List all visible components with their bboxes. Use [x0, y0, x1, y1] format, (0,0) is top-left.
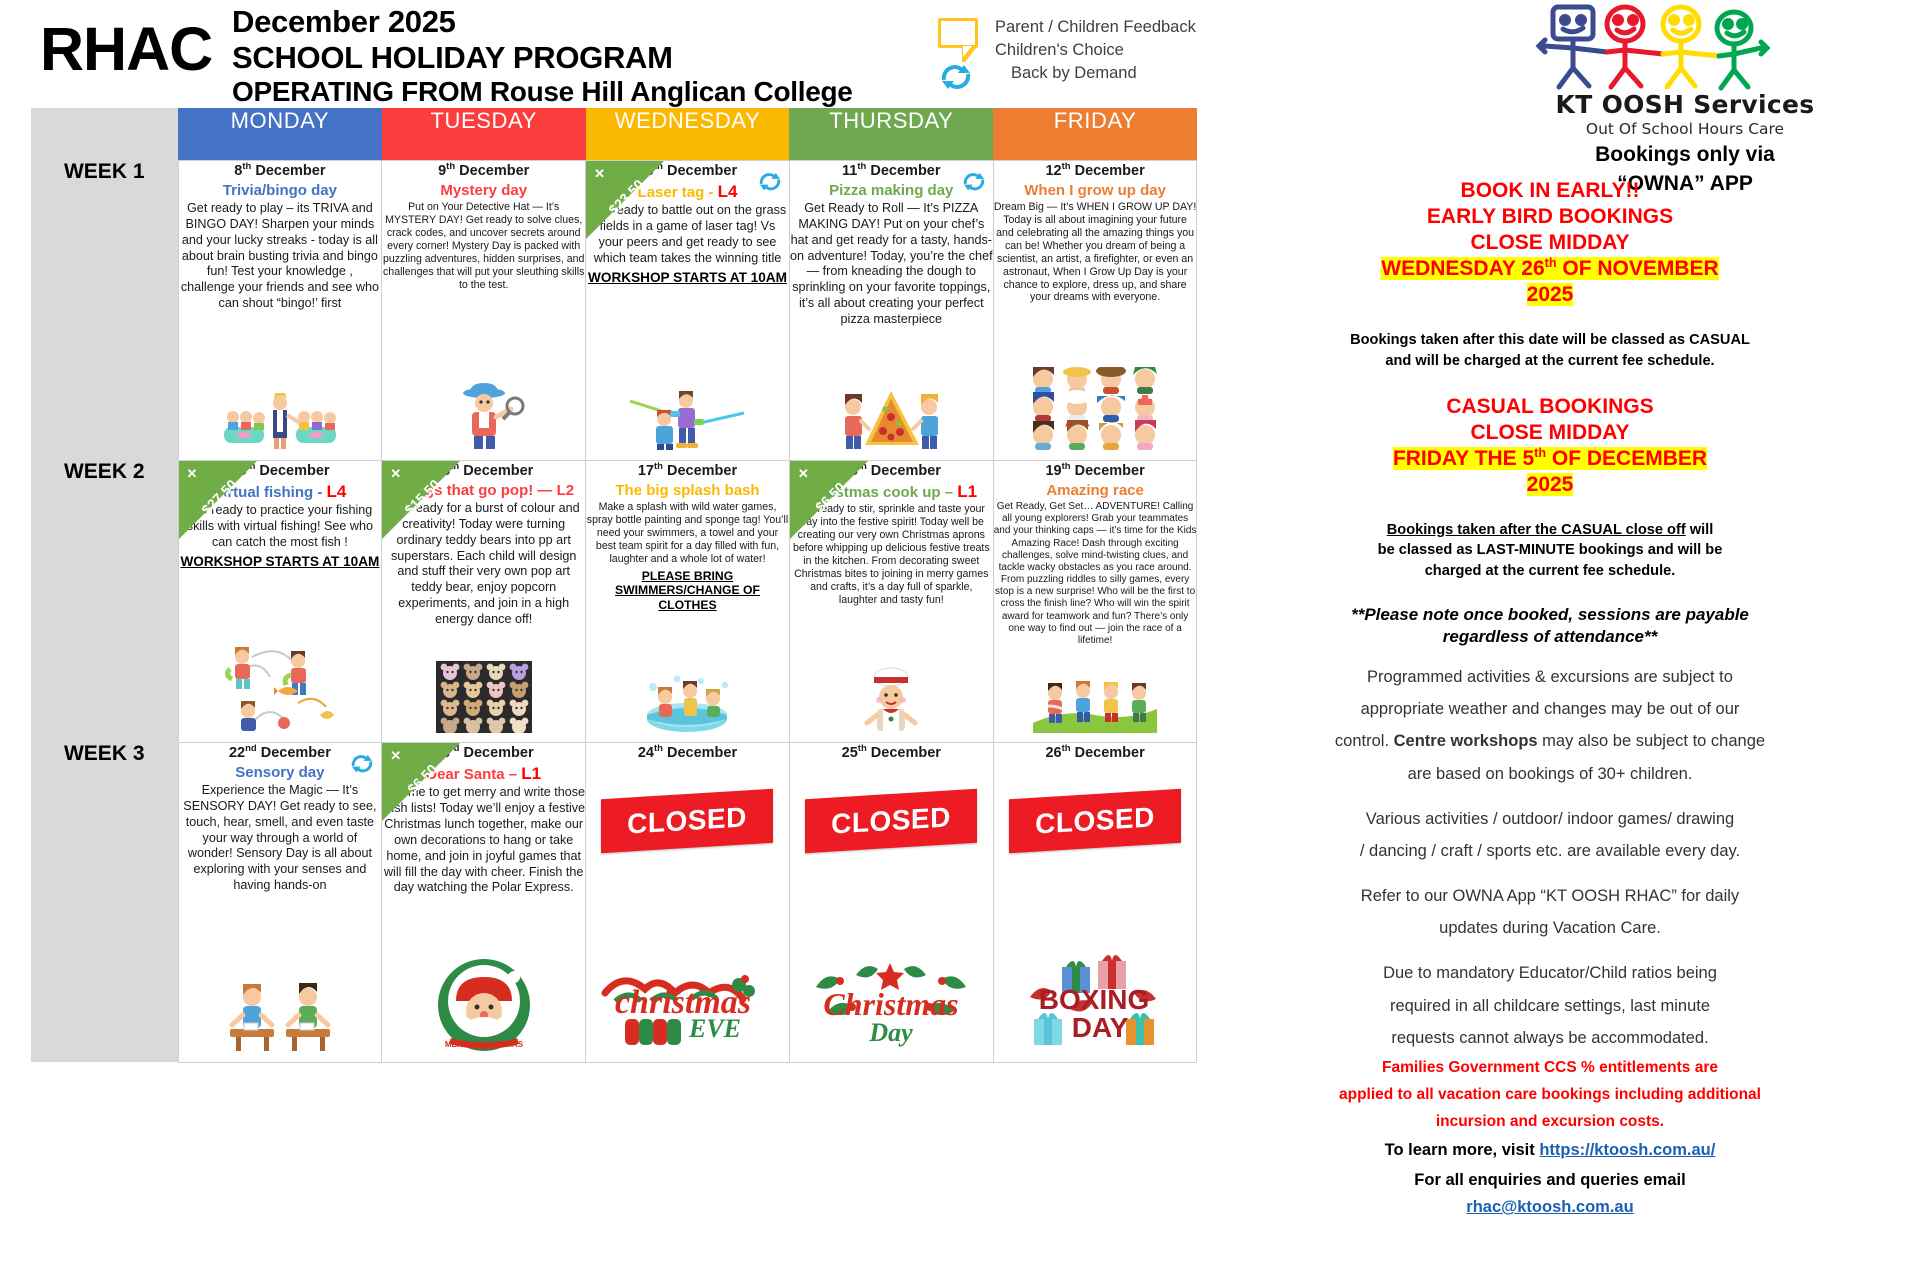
cell-date: 24th December	[586, 743, 789, 762]
legend-item-parent-feedback: Parent / Children Feedback	[995, 16, 1196, 39]
day-cell-11-december[interactable]: 11th December Pizza making day Get Ready…	[789, 160, 993, 460]
cell-date: 9th December	[382, 161, 585, 180]
day-header-tuesday: TUESDAY	[382, 108, 586, 160]
cell-date: 8th December	[179, 161, 382, 180]
svg-text:EVE: EVE	[688, 1014, 741, 1043]
price-badge: ✕ $23.50	[586, 161, 664, 239]
day-header-friday: FRIDAY	[993, 108, 1197, 160]
bookings-via-line1: Bookings only via	[1520, 143, 1850, 167]
programmed-line-4: are based on bookings of 30+ children.	[1200, 758, 1900, 790]
fishing-kids-icon	[179, 641, 382, 742]
last-minute-line-1: Bookings taken after the CASUAL close of…	[1200, 520, 1900, 541]
day-cell-12-december[interactable]: 12th December When I grow up day Dream B…	[993, 160, 1197, 460]
day-cell-22-december[interactable]: 22nd December Sensory day Experience the…	[178, 742, 382, 1062]
ratios-line-3: requests cannot always be accommodated.	[1200, 1022, 1900, 1054]
price-badge: ✕ $27.50	[179, 461, 257, 539]
svg-text:Christmas: Christmas	[824, 986, 959, 1022]
week-label-2: WEEK 2	[31, 460, 178, 742]
status-badge-closed: CLOSED	[1009, 788, 1181, 853]
price-badge: ✕ $15.50	[382, 461, 460, 539]
price-badge: ✕ $6.50	[790, 461, 868, 539]
ratios-line-1: Due to mandatory Educator/Child ratios b…	[1200, 957, 1900, 989]
classroom-children-icon	[179, 393, 382, 460]
day-cell-26-december[interactable]: 26th December CLOSED	[993, 742, 1197, 1062]
cell-workshop-note: WORKSHOP STARTS AT 10AM	[586, 270, 789, 286]
week-3-row: WEEK 3 22nd December Sensory day Experie…	[31, 742, 1197, 1062]
activity-level-badge: L4	[327, 482, 347, 501]
cell-date: 19th December	[994, 461, 1197, 480]
calendar-header-row: MONDAY TUESDAY WEDNESDAY THURSDAY FRIDAY	[31, 108, 1197, 160]
day-cell-19-december[interactable]: 19th December Amazing race Get Ready, Ge…	[993, 460, 1197, 742]
christmas-day-icon: Christmas Day	[790, 957, 993, 1062]
day-cell-10-december[interactable]: ✕ $23.50 10th December Laser tag - L4 Ge…	[586, 160, 790, 460]
logo-subtitle: Out Of School Hours Care	[1520, 120, 1850, 138]
programmed-line-3: control. Centre workshops may also be su…	[1200, 725, 1900, 757]
title-location: OPERATING FROM Rouse Hill Anglican Colle…	[232, 76, 853, 108]
cell-activity-title: Trivia/bingo day	[179, 182, 382, 199]
day-cell-23-december[interactable]: ✕ $6.50 23rd December Dear Santa – L1 It…	[382, 742, 586, 1062]
cell-activity-title: Mystery day	[382, 182, 585, 199]
week-1-row: WEEK 1 8th December Trivia/bingo day Get…	[31, 160, 1197, 460]
cell-date: 17th December	[586, 461, 789, 480]
back-by-demand-cycle-icon	[349, 751, 375, 780]
back-by-demand-cycle-icon	[938, 61, 986, 96]
back-by-demand-cycle-icon	[961, 169, 987, 198]
casual-bookings-date: FRIDAY THE 5th OF DECEMBER	[1200, 446, 1900, 472]
splash-pool-icon	[586, 671, 789, 742]
detective-child-icon	[382, 381, 585, 460]
page-header: RHAC December 2025 SCHOOL HOLIDAY PROGRA…	[0, 0, 1920, 108]
cell-description: Experience the Magic — It’s SENSORY DAY!…	[179, 783, 382, 894]
back-by-demand-cycle-icon	[757, 169, 783, 198]
legend-item-back-by-demand: Back by Demand	[995, 62, 1196, 85]
various-activities-line-1: Various activities / outdoor/ indoor gam…	[1200, 803, 1900, 835]
cell-description: Dream Big — It’s WHEN I GROW UP DAY! Tod…	[994, 201, 1197, 304]
day-cell-15-december[interactable]: ✕ $27.50 15th December Virtual fishing -…	[178, 460, 382, 742]
ratios-line-2: required in all childcare settings, last…	[1200, 990, 1900, 1022]
svg-text:DAY: DAY	[1072, 1012, 1129, 1043]
cell-description: Get ready to play – its TRIVA and BINGO …	[179, 201, 382, 312]
day-header-wednesday: WEDNESDAY	[586, 108, 790, 160]
calendar-grid: MONDAY TUESDAY WEDNESDAY THURSDAY FRIDAY…	[31, 108, 1197, 1063]
christmas-baker-icon	[790, 667, 993, 742]
week-2-row: WEEK 2 ✕ $27.50 15th December Virtual fi…	[31, 460, 1197, 742]
title-month: December 2025	[232, 4, 853, 40]
close-icon: ✕	[187, 466, 198, 482]
day-cell-17-december[interactable]: 17th December The big splash bash Make a…	[586, 460, 790, 742]
amazing-race-kids-icon	[994, 679, 1197, 742]
programmed-line-2: appropriate weather and changes may be o…	[1200, 693, 1900, 725]
book-early-year: 2025	[1200, 282, 1900, 308]
day-cell-25-december[interactable]: 25th December CLOSED	[789, 742, 993, 1062]
day-cell-24-december[interactable]: 24th December CLOSED christmas EVE	[586, 742, 790, 1062]
pizza-kids-icon	[790, 387, 993, 460]
rhac-email-link[interactable]: rhac@ktoosh.com.au	[1466, 1198, 1633, 1216]
stick-figures-logo-icon	[1520, 2, 1850, 94]
day-cell-16-december[interactable]: ✕ $15.50 16th December Things that go po…	[382, 460, 586, 742]
day-header-monday: MONDAY	[178, 108, 382, 160]
activity-level-badge: L4	[718, 182, 738, 201]
day-cell-18-december[interactable]: ✕ $6.50 18th December Christmas cook up …	[789, 460, 993, 742]
svg-text:Day: Day	[869, 1018, 914, 1047]
santa-badge-icon: MERRY CHRISTMAS	[382, 957, 585, 1062]
laser-tag-kids-icon	[586, 391, 789, 460]
day-cell-9-december[interactable]: 9th December Mystery day Put on Your Det…	[382, 160, 586, 460]
svg-text:MERRY CHRISTMAS: MERRY CHRISTMAS	[445, 1040, 524, 1049]
payable-note-line-1: **Please note once booked, sessions are …	[1200, 604, 1900, 626]
enquiries-line: For all enquiries and queries email	[1200, 1167, 1900, 1193]
book-early-line-2: EARLY BIRD BOOKINGS	[1200, 204, 1900, 230]
legend-item-childrens-choice: Children's Choice	[995, 39, 1196, 62]
svg-text:BOXING: BOXING	[1039, 984, 1149, 1015]
legend: Parent / Children Feedback Children's Ch…	[938, 16, 1198, 96]
close-icon: ✕	[390, 748, 401, 764]
casual-note-line-1: Bookings taken after this date will be c…	[1200, 330, 1900, 351]
week-label-3: WEEK 3	[31, 742, 178, 1062]
cell-activity-title: Amazing race	[994, 482, 1197, 499]
corner-blank	[31, 108, 178, 160]
last-minute-line-2: be classed as LAST-MINUTE bookings and w…	[1200, 540, 1900, 561]
learn-more-line: To learn more, visit https://ktoosh.com.…	[1200, 1135, 1900, 1166]
logo-name: KT OOSH Services	[1520, 90, 1850, 119]
boxing-day-icon: BOXING DAY	[994, 953, 1197, 1062]
cell-date: 25th December	[790, 743, 993, 762]
holiday-program-flyer: RHAC December 2025 SCHOOL HOLIDAY PROGRA…	[0, 0, 1920, 1280]
close-icon: ✕	[798, 466, 809, 482]
ccs-line-3: incursion and excursion costs.	[1200, 1108, 1900, 1135]
refer-owna-line-1: Refer to our OWNA App “KT OOSH RHAC” for…	[1200, 880, 1900, 912]
cell-description: Make a splash with wild water games, spr…	[586, 501, 789, 566]
various-activities-line-2: / dancing / craft / sports etc. are avai…	[1200, 835, 1900, 867]
kt-oosh-logo-area: KT OOSH Services Out Of School Hours Car…	[1520, 0, 1850, 196]
programmed-line-1: Programmed activities & excursions are s…	[1200, 661, 1900, 693]
legend-icon-group	[938, 16, 986, 96]
day-cell-8-december[interactable]: 8th December Trivia/bingo day Get ready …	[178, 160, 382, 460]
sensory-kids-icon	[179, 979, 382, 1062]
cell-activity-title: When I grow up day	[994, 182, 1197, 199]
book-early-date: WEDNESDAY 26th OF NOVEMBER	[1200, 256, 1900, 282]
cell-description: Get Ready, Get Set… ADVENTURE! Calling a…	[994, 501, 1197, 647]
email-line: rhac@ktoosh.com.au	[1200, 1193, 1900, 1221]
cell-activity-title: The big splash bash	[586, 482, 789, 499]
cell-description: Put on Your Detective Hat — It’s MYSTERY…	[382, 201, 585, 291]
speech-bubble-icon	[938, 18, 978, 48]
casual-bookings-line-2: CLOSE MIDDAY	[1200, 420, 1900, 446]
casual-bookings-year: 2025	[1200, 472, 1900, 498]
ktoosh-website-link[interactable]: https://ktoosh.com.au/	[1539, 1141, 1715, 1159]
close-icon: ✕	[390, 466, 401, 482]
info-sidebar: BOOK IN EARLY!! EARLY BIRD BOOKINGS CLOS…	[1200, 178, 1900, 1221]
book-early-line-1: BOOK IN EARLY!!	[1200, 178, 1900, 204]
brand-rhac: RHAC	[40, 14, 212, 84]
cell-description: Get Ready to Roll — It’s PIZZA MAKING DA…	[790, 201, 993, 328]
christmas-eve-icon: christmas EVE	[586, 957, 789, 1062]
casual-note-line-2: and will be charged at the current fee s…	[1200, 351, 1900, 372]
last-minute-line-3: charged at the current fee schedule.	[1200, 561, 1900, 582]
refer-owna-line-2: updates during Vacation Care.	[1200, 912, 1900, 944]
cell-workshop-note: WORKSHOP STARTS AT 10AM	[179, 554, 382, 570]
payable-note-line-2: regardless of attendance**	[1200, 626, 1900, 648]
activity-level-badge: L1	[521, 764, 541, 783]
day-header-thursday: THURSDAY	[789, 108, 993, 160]
cell-date: 12th December	[994, 161, 1197, 180]
ccs-line-1: Families Government CCS % entitlements a…	[1200, 1054, 1900, 1081]
activity-level-badge: L1	[957, 482, 977, 501]
status-badge-closed: CLOSED	[601, 788, 773, 853]
ccs-line-2: applied to all vacation care bookings in…	[1200, 1081, 1900, 1108]
status-badge-closed: CLOSED	[805, 788, 977, 853]
price-badge: ✕ $6.50	[382, 743, 460, 821]
pop-art-teddy-grid-icon	[382, 661, 585, 742]
close-icon: ✕	[594, 166, 605, 182]
title-block: December 2025 SCHOOL HOLIDAY PROGRAM OPE…	[232, 4, 853, 108]
week-label-1: WEEK 1	[31, 160, 178, 460]
casual-bookings-line-1: CASUAL BOOKINGS	[1200, 394, 1900, 420]
legend-text: Parent / Children Feedback Children's Ch…	[995, 16, 1196, 84]
professions-faces-icon	[994, 367, 1197, 460]
book-early-line-3: CLOSE MIDDAY	[1200, 230, 1900, 256]
title-program: SCHOOL HOLIDAY PROGRAM	[232, 40, 853, 76]
cell-bring-note: PLEASE BRING SWIMMERS/CHANGE OF CLOTHES	[586, 569, 789, 613]
cell-date: 26th December	[994, 743, 1197, 762]
